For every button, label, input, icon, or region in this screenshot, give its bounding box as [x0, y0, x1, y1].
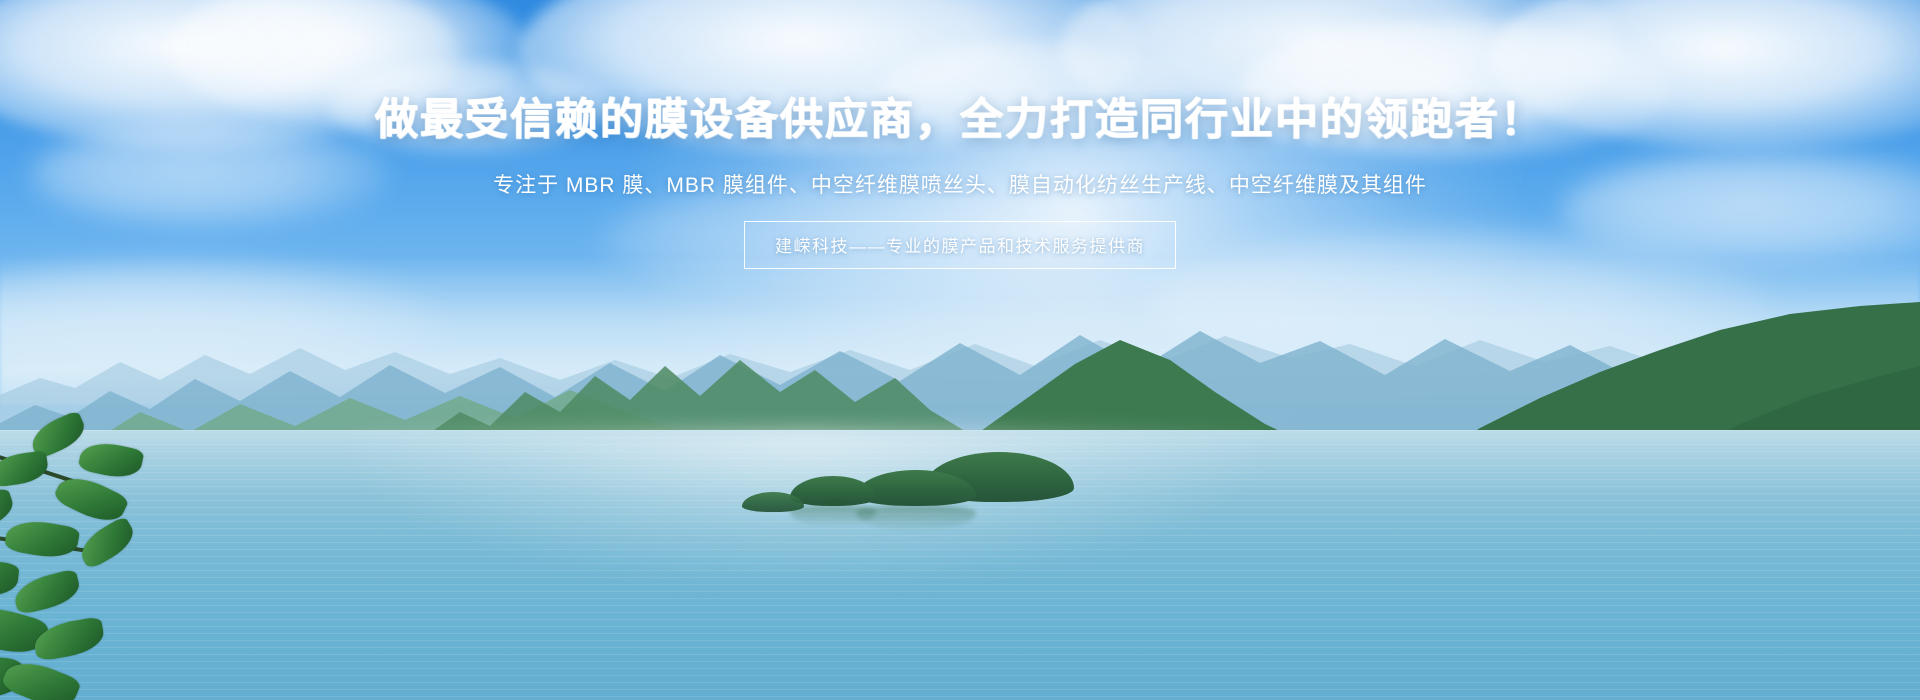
banner-subline: 专注于 MBR 膜、MBR 膜组件、中空纤维膜喷丝头、膜自动化纺丝生产线、中空纤… [0, 169, 1920, 199]
hero-banner: 做最受信赖的膜设备供应商，全力打造同行业中的领跑者！ 专注于 MBR 膜、MBR… [0, 0, 1920, 700]
water-sun-reflection [346, 430, 1268, 580]
banner-headline: 做最受信赖的膜设备供应商，全力打造同行业中的领跑者！ [0, 96, 1920, 145]
banner-copy: 做最受信赖的膜设备供应商，全力打造同行业中的领跑者！ 专注于 MBR 膜、MBR… [0, 96, 1920, 269]
banner-tagline-wrapper: 建嵘科技——专业的膜产品和技术服务提供商 [0, 221, 1920, 269]
banner-tagline-box: 建嵘科技——专业的膜产品和技术服务提供商 [744, 221, 1176, 269]
foreground-foliage [0, 410, 190, 700]
